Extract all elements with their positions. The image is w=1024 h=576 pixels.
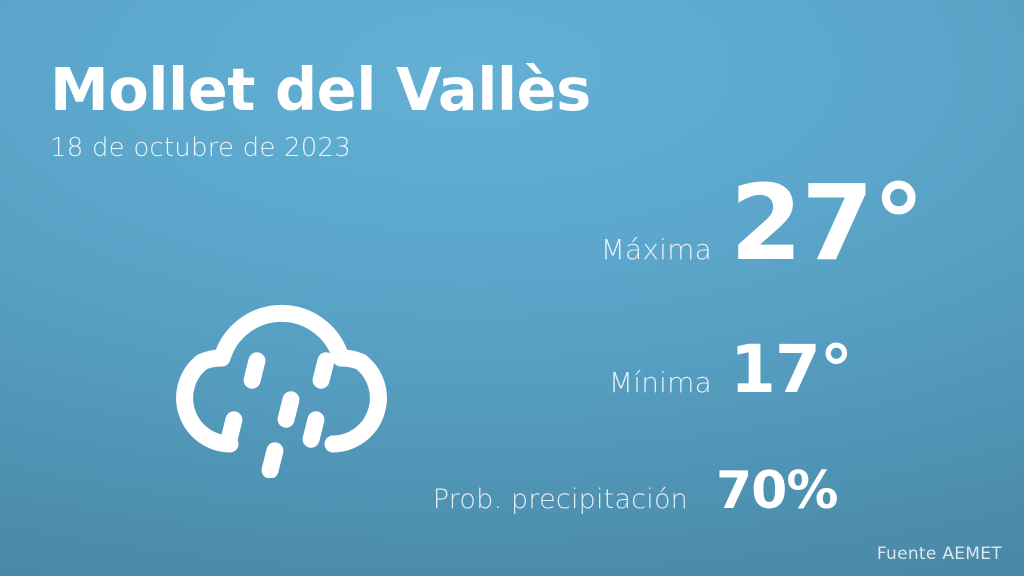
stat-label-minima: Mínima xyxy=(400,366,712,399)
stat-label-precipitacion: Prob. precipitación xyxy=(400,484,688,515)
stat-value-precipitacion: 70% xyxy=(716,468,837,515)
header: Mollet del Vallès 18 de octubre de 2023 xyxy=(50,60,670,161)
rain-drop xyxy=(311,350,336,390)
stat-label-maxima: Máxima xyxy=(400,233,712,266)
rain-drop xyxy=(301,409,326,449)
rain-cloud-icon xyxy=(168,248,408,478)
rain-drops xyxy=(219,350,336,478)
rain-drop xyxy=(242,350,267,390)
stat-value-minima: 17° xyxy=(730,340,852,399)
source-attribution: Fuente AEMET xyxy=(877,544,1002,564)
weather-icon xyxy=(168,248,408,478)
rain-drop xyxy=(276,389,301,429)
weather-card: Mollet del Vallès 18 de octubre de 2023 … xyxy=(0,0,1024,576)
stat-value-maxima: 27° xyxy=(730,178,924,270)
rain-drop xyxy=(260,440,285,478)
page-title: Mollet del Vallès xyxy=(50,60,670,119)
rain-drop xyxy=(219,409,244,449)
stat-row-precipitacion: Prob. precipitación 70% xyxy=(400,468,980,515)
date-subtitle: 18 de octubre de 2023 xyxy=(50,135,670,161)
stat-row-maxima: Máxima 27° xyxy=(400,178,980,270)
stat-row-minima: Mínima 17° xyxy=(400,340,980,399)
